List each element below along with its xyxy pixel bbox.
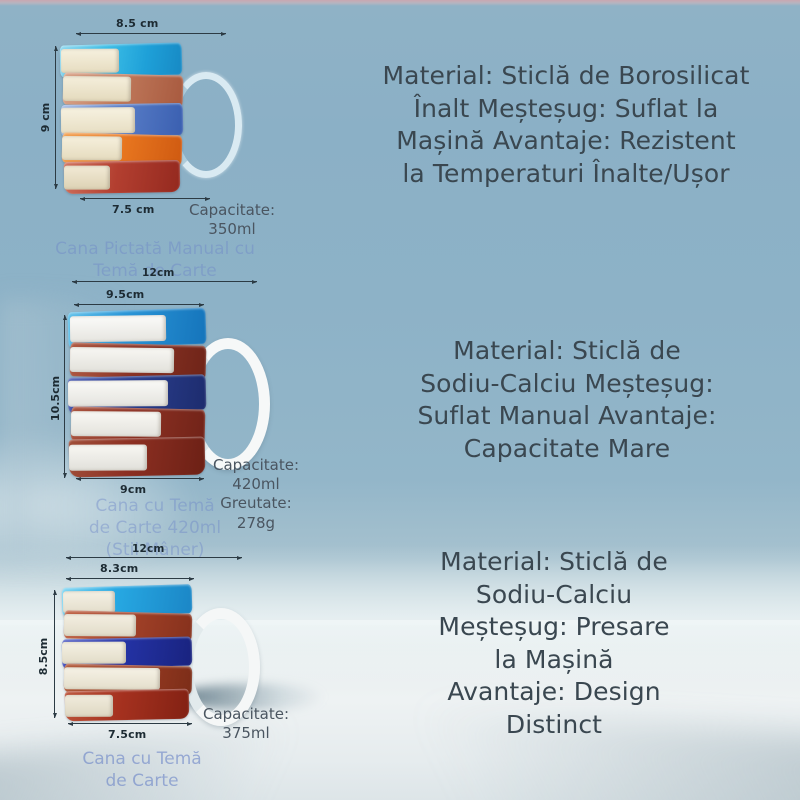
dimension-line-height-3 — [54, 590, 55, 718]
product-spec-3: Material: Sticlă de Sodiu-Calciu Meșteșu… — [344, 546, 764, 741]
dimension-top-width-2: 9.5cm — [106, 288, 144, 301]
dimension-height-1: 9 cm — [39, 103, 52, 132]
product-spec-1: Material: Sticlă de Borosilicat Înalt Me… — [336, 60, 796, 190]
dimension-line-height-1 — [55, 46, 56, 189]
book-pages — [70, 347, 174, 373]
dimension-line-top-width-2 — [74, 304, 204, 305]
dimension-line-height-2 — [64, 315, 65, 478]
dimension-line-outer-width-3 — [66, 557, 242, 558]
book-pages — [64, 667, 160, 690]
book-pages — [68, 380, 168, 407]
book-pages — [64, 166, 110, 190]
book-pages — [62, 642, 126, 664]
book-pages — [70, 315, 166, 342]
book-pages — [61, 49, 119, 74]
book-pages — [65, 695, 113, 717]
dimension-line-top-width-3 — [66, 578, 194, 579]
book-pages — [61, 107, 135, 134]
dimension-line-outer-width-2 — [72, 281, 257, 282]
dimension-line-bottom-width-1 — [80, 198, 210, 199]
book-layer — [65, 689, 190, 722]
dimension-line-top-width-1 — [76, 33, 226, 34]
dimension-top-width-1: 8.5 cm — [116, 17, 159, 30]
dimension-bottom-width-1: 7.5 cm — [112, 203, 155, 216]
dimension-height-2: 10.5cm — [49, 376, 62, 421]
dimension-outer-width-3: 12cm — [132, 543, 165, 555]
product-title-3: Cana cu Temă de Carte — [42, 748, 242, 792]
book-pages — [63, 76, 131, 102]
mug-image-1 — [60, 44, 250, 194]
mug-image-3 — [62, 586, 262, 722]
product-infographic: 8.5 cm 9 cm 7.5 cm — [0, 0, 800, 800]
book-pages — [64, 614, 136, 637]
dimension-bottom-width-3: 7.5cm — [108, 728, 146, 741]
capacity-note-1: Capacitate: 350ml — [168, 201, 296, 239]
mug-image-2 — [68, 310, 268, 480]
book-layer — [69, 437, 206, 478]
mug-body-3 — [62, 586, 194, 720]
product-spec-2: Material: Sticlă de Sodiu-Calciu Meșteșu… — [352, 335, 782, 465]
dimension-top-width-3: 8.3cm — [100, 562, 138, 575]
book-pages — [62, 136, 122, 161]
book-pages — [71, 411, 161, 437]
dimension-height-3: 8.5cm — [37, 638, 50, 675]
capacity-note-3: Capacitate: 375ml — [182, 705, 310, 743]
mug-body-1 — [60, 44, 184, 194]
mug-body-2 — [68, 310, 208, 478]
dimension-line-bottom-width-3 — [68, 723, 192, 724]
book-layer — [64, 160, 181, 194]
book-pages — [69, 444, 147, 470]
dimension-outer-width-2: 12cm — [142, 267, 175, 279]
